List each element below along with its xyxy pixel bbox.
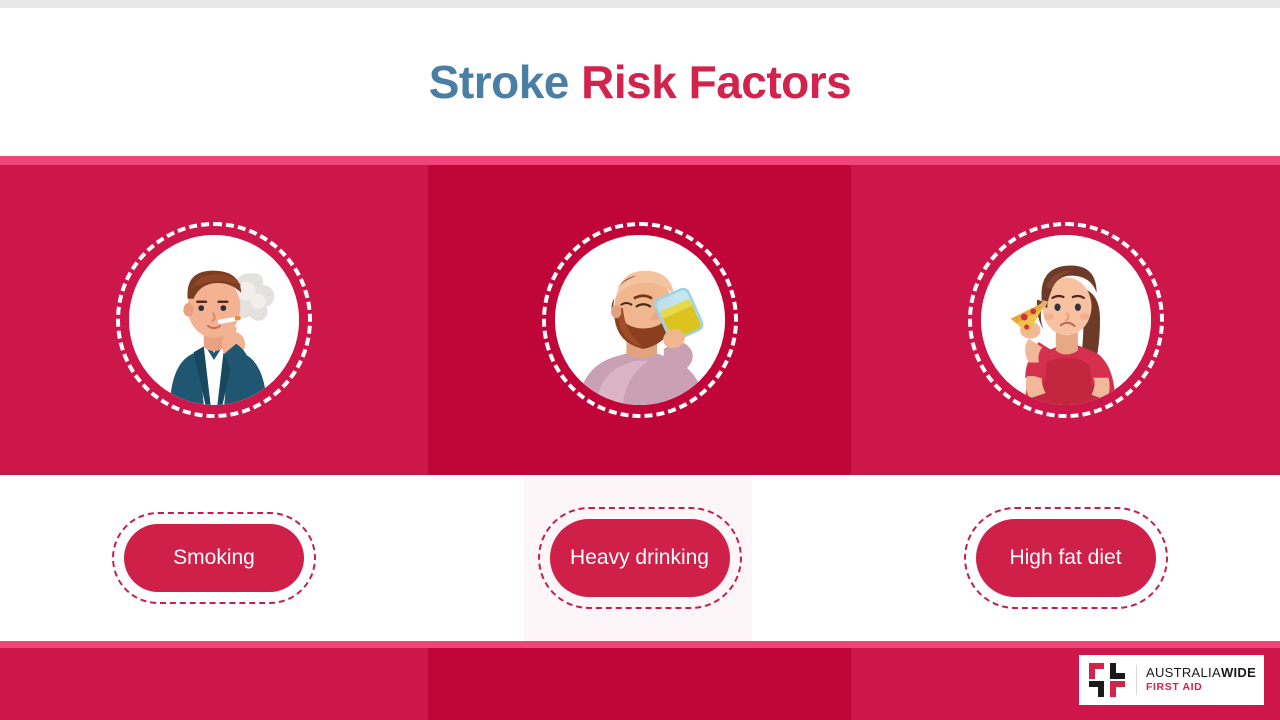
- illustration-band: [0, 156, 1280, 475]
- top-edge-strip: [0, 0, 1280, 8]
- hero-columns: [0, 165, 1280, 475]
- smoking-man-illustration: [129, 235, 299, 405]
- label-pill-high-fat-diet[interactable]: High fat diet: [976, 519, 1156, 597]
- pizza-woman-illustration: [981, 235, 1151, 405]
- label-columns: Smoking Heavy drinking High fat diet: [0, 475, 1280, 641]
- label-pill-smoking[interactable]: Smoking: [124, 524, 304, 592]
- label-pill-outline-heavy-drinking[interactable]: Heavy drinking: [538, 507, 742, 609]
- label-line-2: diet: [1088, 545, 1122, 571]
- title-area: Stroke Risk Factors: [0, 8, 1280, 156]
- logo-brand-name: AUSTRALIAWIDE: [1146, 666, 1256, 681]
- label-cell-smoking: Smoking: [0, 475, 428, 641]
- avatar: [968, 222, 1164, 418]
- logo-brand-regular: AUSTRALIA: [1146, 665, 1221, 680]
- bottom-cell-left: [0, 648, 428, 720]
- illustration-cell-smoking: [0, 165, 428, 475]
- logo-tagline: FIRST AID: [1146, 681, 1256, 694]
- bottom-cell-center: [428, 648, 851, 720]
- label-cell-heavy-drinking: Heavy drinking: [428, 475, 851, 641]
- label-line-2: drinking: [635, 545, 709, 571]
- label-pill-outline-high-fat-diet[interactable]: High fat diet: [964, 507, 1168, 609]
- brand-logo: AUSTRALIAWIDE FIRST AID: [1079, 655, 1264, 705]
- logo-brand-bold: WIDE: [1221, 665, 1256, 680]
- bottom-top-stripe: [0, 641, 1280, 648]
- label-line-1: Heavy: [570, 545, 630, 571]
- illustration-cell-high-fat-diet: [851, 165, 1280, 475]
- avatar: [116, 222, 312, 418]
- cross-logo-icon: [1087, 661, 1127, 699]
- slide-root: Stroke Risk Factors: [0, 0, 1280, 720]
- title-word-red: Risk Factors: [569, 56, 851, 108]
- illustration-cell-heavy-drinking: [428, 165, 851, 475]
- drinking-man-illustration: [555, 235, 725, 405]
- title-word-blue: Stroke: [429, 56, 569, 108]
- hero-top-stripe: [0, 156, 1280, 165]
- label-line-1: High fat: [1009, 545, 1081, 571]
- avatar: [542, 222, 738, 418]
- page-title: Stroke Risk Factors: [429, 59, 852, 105]
- label-cell-high-fat-diet: High fat diet: [851, 475, 1280, 641]
- logo-text: AUSTRALIAWIDE FIRST AID: [1146, 666, 1256, 694]
- logo-divider: [1136, 665, 1137, 695]
- label-pill-outline-smoking[interactable]: Smoking: [112, 512, 316, 604]
- label-band: Smoking Heavy drinking High fat diet: [0, 475, 1280, 641]
- label-pill-heavy-drinking[interactable]: Heavy drinking: [550, 519, 730, 597]
